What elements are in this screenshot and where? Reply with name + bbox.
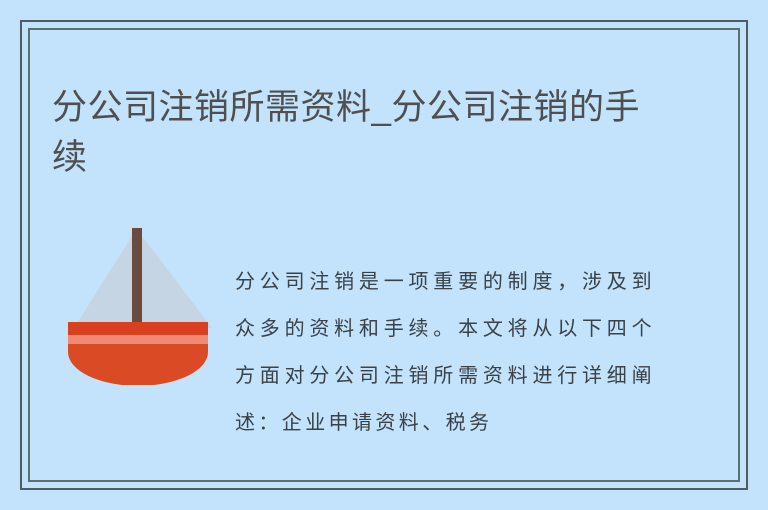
article-card-inner-frame: 分公司注销所需资料_分公司注销的手续 分公司 bbox=[28, 28, 740, 482]
sailboat-icon bbox=[60, 210, 225, 385]
sailboat-illustration bbox=[60, 210, 225, 385]
article-content-row: 分公司注销是一项重要的制度，涉及到众多的资料和手续。本文将从以下四个方面对分公司… bbox=[30, 200, 738, 470]
page-title: 分公司注销所需资料_分公司注销的手续 bbox=[52, 83, 652, 183]
hull-top-band bbox=[68, 322, 208, 335]
hull-body bbox=[68, 344, 208, 385]
sail-right-icon bbox=[142, 236, 212, 328]
article-body-text: 分公司注销是一项重要的制度，涉及到众多的资料和手续。本文将从以下四个方面对分公司… bbox=[235, 258, 655, 446]
sail-left-icon bbox=[74, 236, 132, 328]
article-card: 分公司注销所需资料_分公司注销的手续 分公司 bbox=[20, 20, 748, 490]
hull-stripe bbox=[68, 335, 208, 344]
